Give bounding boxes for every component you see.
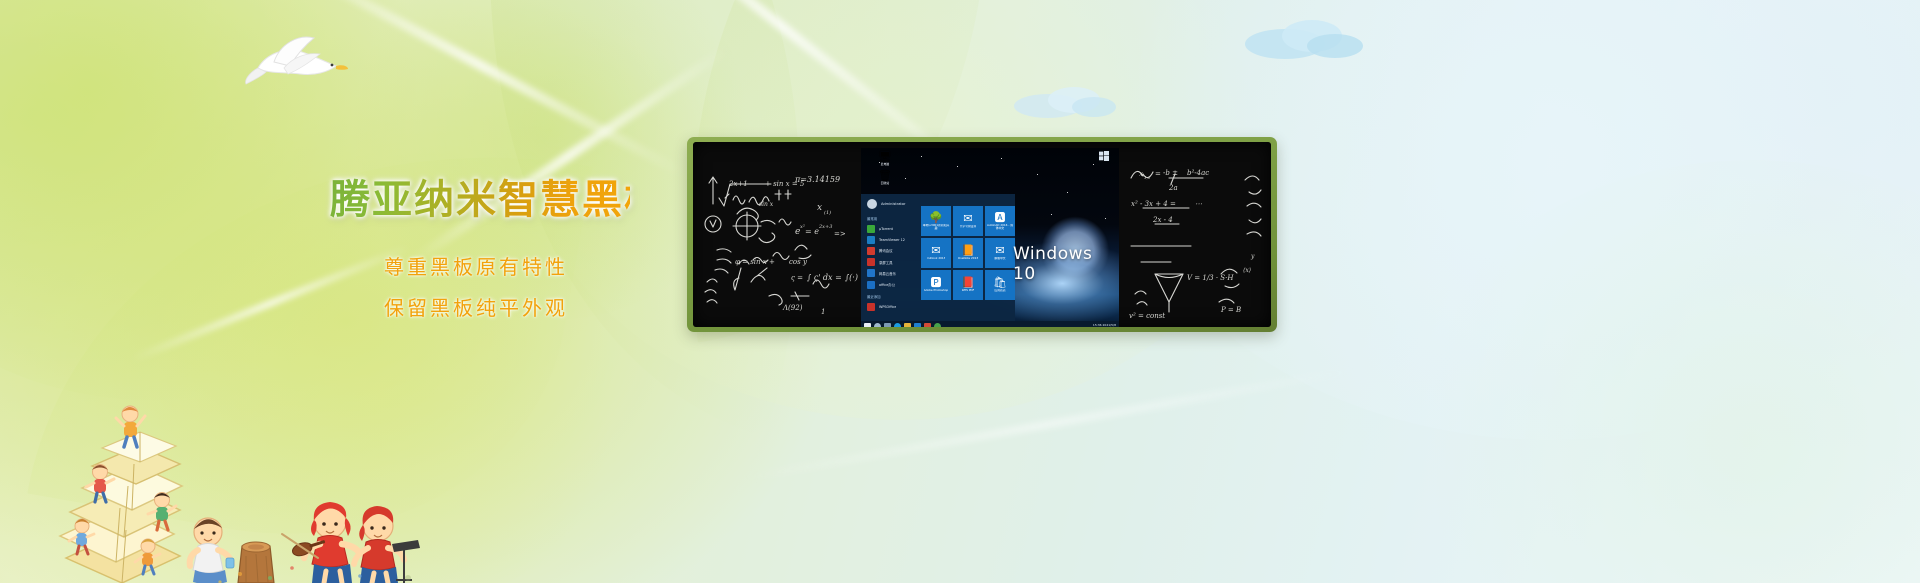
svg-text:2x - 4: 2x - 4 [1152, 216, 1173, 224]
tile[interactable]: ✉ Outlook 2013 [921, 238, 951, 268]
pdf-icon: 📕 [961, 277, 975, 288]
svg-text:φ = sin x +: φ = sin x + [735, 258, 775, 266]
start-menu-item-label: μTorrent [879, 227, 893, 231]
store-icon: 🛍 [993, 277, 1007, 288]
computer-icon: 🖥 [878, 151, 892, 162]
tile[interactable]: 📙 OneNote 2013 [953, 238, 983, 268]
chalk-writing-left: 2x+1 + sin x = 5 π=3.14159 sin x x (1) e… [699, 164, 869, 324]
cloud-left-icon [1010, 78, 1120, 124]
svg-text:V = 1/3 · S·H: V = 1/3 · S·H [1187, 274, 1234, 282]
svg-text:∫(·): ∫(·) [845, 273, 858, 282]
start-menu-item-label: 腾讯会议 [879, 248, 893, 253]
autocad-icon: 🅰 [995, 212, 1006, 223]
svg-text:P = B: P = B [1220, 306, 1241, 314]
edge-icon[interactable] [894, 323, 901, 328]
page-title: 腾亚纳米智慧黑板 [330, 178, 630, 223]
tile-label: OneNote 2013 [958, 257, 978, 260]
svg-text:π=3.14159: π=3.14159 [794, 175, 840, 184]
mail-icon: ✉ [995, 245, 1004, 256]
app-icon [867, 236, 875, 244]
start-menu-item-label: 网易云音乐 [879, 271, 896, 276]
dove-icon [240, 24, 350, 94]
tile[interactable]: 🅿 Adobe Photoshop [921, 270, 951, 300]
svg-text:-b ±: -b ± [1163, 169, 1178, 177]
tile[interactable]: ✉ 邮箱中文 [985, 238, 1015, 268]
decor-dot [405, 575, 411, 581]
smart-blackboard: 2x+1 + sin x = 5 π=3.14159 sin x x (1) e… [687, 137, 1277, 332]
start-menu-tiles[interactable]: 🌳 本地\u3001新闻和兴趣 ✉ 大字号验证码 🅰 AutoCAD 2016 … [921, 206, 1017, 300]
svg-text:1,2: 1,2 [1144, 175, 1151, 180]
app-icon [867, 258, 875, 266]
tile-label: Outlook 2013 [927, 257, 946, 260]
desktop-icon-recycle-bin[interactable]: 🗑 回收站 [865, 170, 905, 185]
svg-text:x² - 3x + 4 =: x² - 3x + 4 = [1131, 200, 1176, 208]
svg-text:Λ(92): Λ(92) [782, 304, 803, 312]
desktop-icon-label: 回收站 [881, 181, 889, 185]
mail-icon: ✉ [963, 213, 972, 224]
svg-text:1: 1 [821, 308, 825, 316]
recycle-bin-icon: 🗑 [878, 170, 892, 181]
app-icon [867, 247, 875, 255]
kid-conductor [354, 506, 420, 583]
svg-text:(1): (1) [824, 209, 831, 216]
start-menu-item[interactable]: WPSOffice [861, 301, 1015, 312]
start-menu-item-label: WPSOffice [879, 305, 896, 309]
start-menu-item-label: office办公 [879, 282, 895, 287]
photoshop-icon: 🅿 [931, 277, 942, 288]
banner-text-block: 腾亚纳米智慧黑板 尊重黑板原有特性 保留黑板纯平外观 [330, 178, 630, 329]
svg-text:⟨x⟩: ⟨x⟩ [1243, 267, 1251, 274]
tile-label: 应用商店 [994, 289, 1005, 292]
svg-text:sin x: sin x [759, 201, 774, 208]
children-books-illustration [30, 350, 420, 583]
onenote-icon: 📙 [961, 245, 975, 256]
app-icon [867, 281, 875, 289]
tile-label: AutoCAD 2016 - 简体中文 [986, 224, 1014, 230]
username-label: Administrator [881, 202, 906, 206]
store-icon[interactable] [914, 323, 921, 328]
svg-text:x: x [1139, 170, 1143, 178]
tile[interactable]: 🛍 应用商店 [985, 270, 1015, 300]
windows-display: 🖥 此电脑 🗑 回收站 [861, 148, 1119, 327]
search-icon[interactable] [874, 323, 881, 328]
chalk-writing-right: x 1,2 = -b ± b²-4ac 2a x² - 3x + 4 = ⋯ 2… [1125, 162, 1271, 322]
windows-logo-icon [1099, 151, 1109, 161]
cloud-right-icon [1240, 8, 1370, 68]
avatar [867, 199, 877, 209]
tile-label: 大字号验证码 [960, 225, 977, 228]
start-icon[interactable] [864, 323, 871, 328]
clock[interactable]: 15:36 2021/5/8 [1093, 324, 1116, 327]
mail-icon[interactable] [924, 323, 931, 328]
svg-text:cos y: cos y [789, 258, 808, 266]
background-blob [1400, 160, 1920, 583]
tile[interactable]: 🌳 本地\u3001新闻和兴趣 [921, 206, 951, 236]
app-icon [867, 225, 875, 233]
svg-text:=>: => [834, 230, 846, 238]
svg-text:⋯: ⋯ [1195, 200, 1202, 208]
svg-text:y: y [1250, 253, 1255, 260]
desktop-icon-label: 此电脑 [881, 162, 889, 166]
task-view-icon[interactable] [884, 323, 891, 328]
svg-text:2x+1: 2x+1 [728, 180, 748, 188]
svg-text:2a: 2a [1168, 184, 1178, 192]
start-menu-item-label: TeamViewer 12 [879, 238, 905, 242]
tile-label: 邮箱中文 [994, 257, 1005, 260]
start-menu-item-label: 录屏工具 [879, 260, 893, 265]
tile-label: 本地\u3001新闻和兴趣 [922, 224, 950, 230]
chrome-icon[interactable] [934, 323, 941, 328]
promo-banner: 腾亚纳米智慧黑板 尊重黑板原有特性 保留黑板纯平外观 [0, 0, 1920, 583]
svg-text:ς =: ς = [791, 274, 803, 282]
blackboard-frame: 2x+1 + sin x = 5 π=3.14159 sin x x (1) e… [687, 137, 1277, 332]
kid-kneeling [190, 518, 234, 583]
light-streak [744, 366, 1356, 482]
taskbar[interactable]: 15:36 2021/5/8 [861, 321, 1119, 327]
outlook-icon: ✉ [931, 245, 940, 256]
svg-text:2x+3: 2x+3 [818, 224, 832, 230]
subtitle-line-1: 尊重黑板原有特性 [330, 247, 622, 288]
tile-label: Adobe Photoshop [924, 289, 948, 292]
svg-text:=: = [1155, 170, 1161, 178]
svg-text:= e: = e [805, 227, 819, 236]
tile[interactable]: ✉ 大字号验证码 [953, 206, 983, 236]
desktop-icon-computer[interactable]: 🖥 此电脑 [865, 151, 905, 166]
subtitle-group: 尊重黑板原有特性 保留黑板纯平外观 [330, 247, 630, 329]
desktop-icon-group: 🖥 此电脑 🗑 回收站 [865, 151, 905, 189]
svg-text:b²-4ac: b²-4ac [1187, 169, 1209, 177]
svg-text:x: x [817, 203, 822, 213]
app-icon [867, 303, 875, 311]
os-version-label: Windows 10 [1013, 244, 1119, 284]
tile-label: WPS PDF [962, 289, 975, 292]
tile[interactable]: 🅰 AutoCAD 2016 - 简体中文 [985, 206, 1015, 236]
explorer-icon[interactable] [904, 323, 911, 328]
blackboard-surface: 2x+1 + sin x = 5 π=3.14159 sin x x (1) e… [693, 142, 1271, 327]
app-icon [867, 269, 875, 277]
svg-text:v² = const: v² = const [1129, 312, 1165, 320]
subtitle-line-2: 保留黑板纯平外观 [330, 288, 622, 329]
kid-violin-girl [282, 502, 360, 583]
tile[interactable]: 📕 WPS PDF [953, 270, 983, 300]
svg-text:∫ ς' dx =: ∫ ς' dx = [807, 273, 842, 282]
tree-icon: 🌳 [929, 212, 943, 223]
